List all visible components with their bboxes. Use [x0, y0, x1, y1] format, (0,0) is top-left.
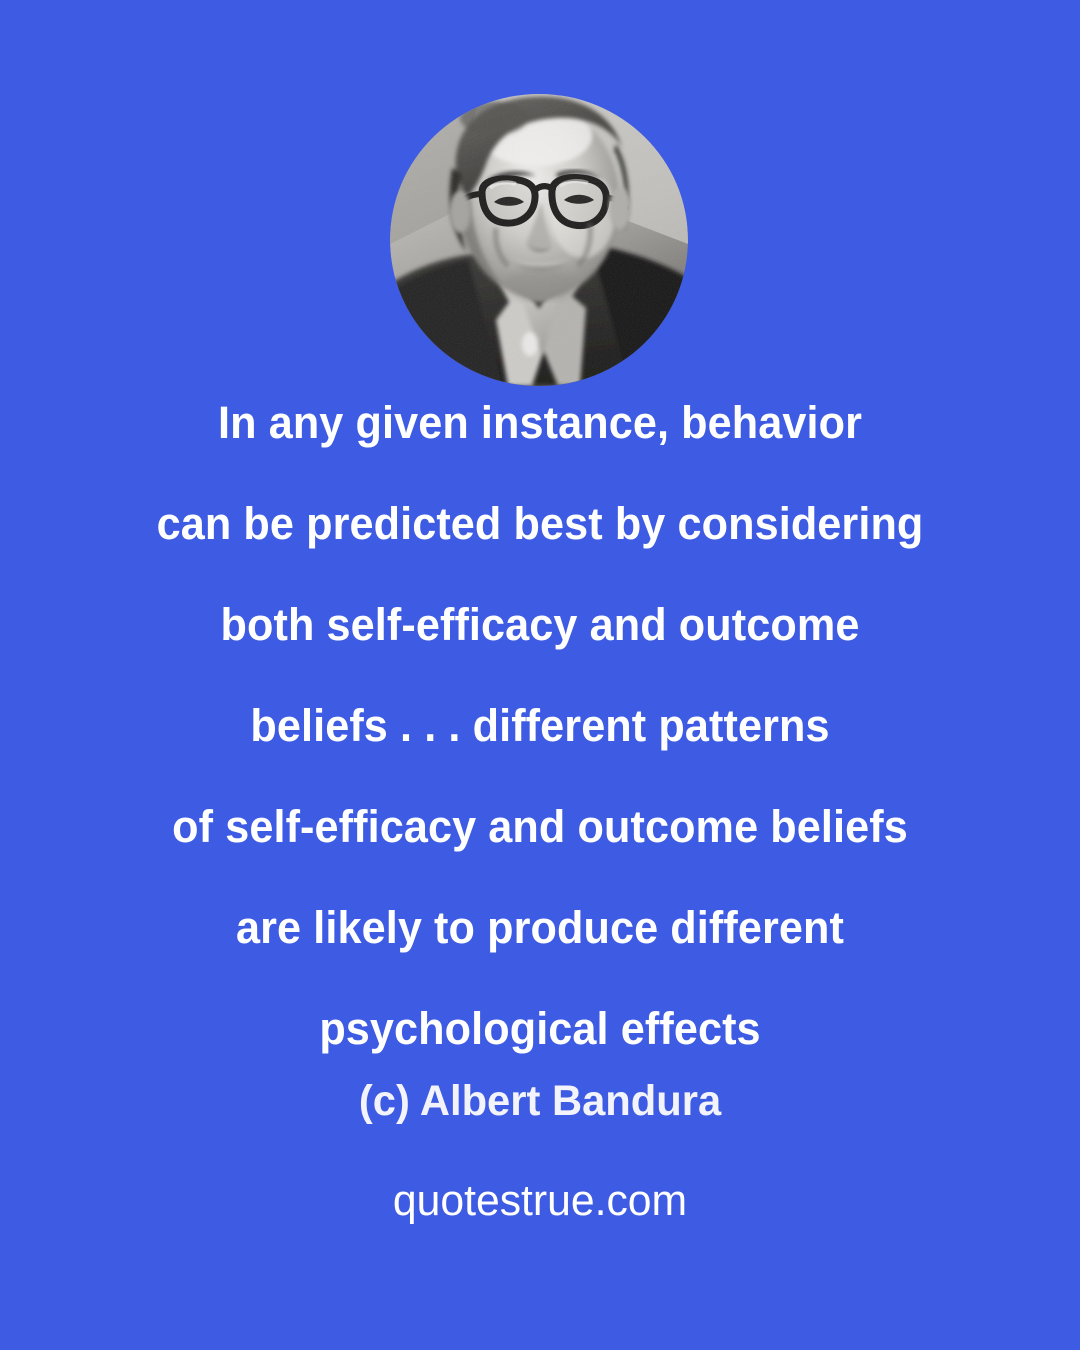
quote-line: can be predicted best by considering — [22, 473, 1059, 574]
quote-line: In any given instance, behavior — [22, 372, 1059, 473]
quote-attribution: (c) Albert Bandura — [16, 1073, 1064, 1129]
quote-card: In any given instance, behavior can be p… — [0, 0, 1080, 1350]
quote-line: both self-efficacy and outcome — [22, 574, 1059, 675]
quote-line: of self-efficacy and outcome beliefs — [22, 776, 1059, 877]
portrait-image — [390, 94, 688, 386]
quote-line: beliefs . . . different patterns — [22, 675, 1059, 776]
quote-text: In any given instance, behavior can be p… — [0, 372, 1080, 1079]
quote-line: are likely to produce different — [22, 877, 1059, 978]
avatar — [390, 94, 688, 386]
quote-line: psychological effects — [22, 978, 1059, 1079]
site-watermark: quotestrue.com — [16, 1172, 1064, 1230]
